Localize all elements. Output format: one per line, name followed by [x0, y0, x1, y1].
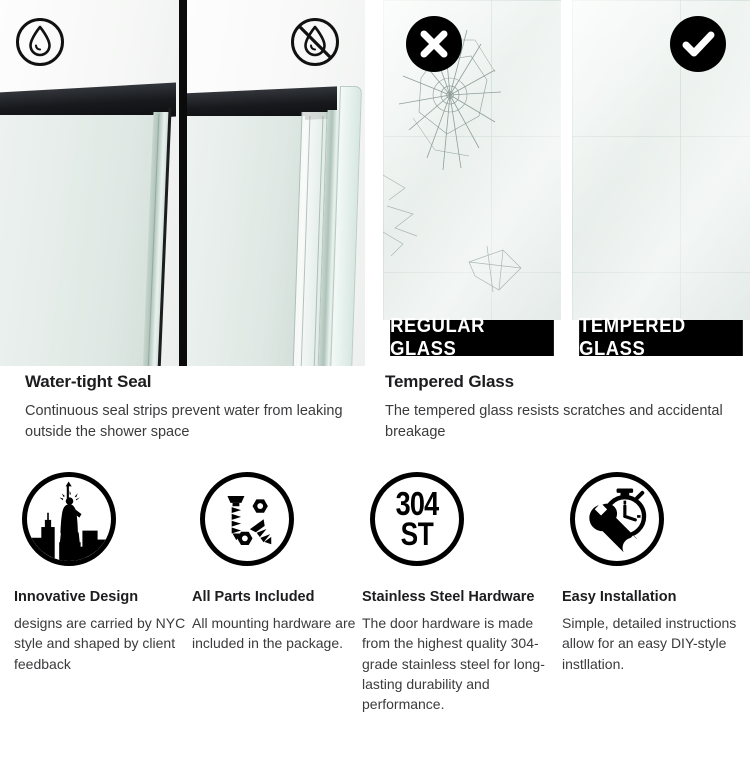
water-tight-seal-photo	[0, 0, 365, 366]
benefit-stainless-steel-hardware: 304 ST Stainless Steel Hardware The door…	[362, 472, 558, 714]
tempered-glass-panel: TEMPERED GLASS	[572, 0, 750, 366]
benefit-body: designs are carried by NYC style and sha…	[14, 613, 190, 673]
benefit-easy-installation: Easy Installation Simple, detailed instr…	[562, 472, 742, 674]
benefit-innovative-design: Innovative Design designs are carried by…	[14, 472, 190, 674]
photo-divider	[179, 0, 187, 366]
benefit-body: Simple, detailed instructions allow for …	[562, 613, 742, 673]
regular-glass-panel: REGULAR GLASS	[383, 0, 561, 366]
feature-water-tight-seal: Water-tight Seal Continuous seal strips …	[25, 372, 385, 442]
x-mark-icon	[406, 16, 462, 72]
regular-glass-caption: REGULAR GLASS	[390, 320, 554, 356]
benefit-body: All mounting hardware are included in th…	[192, 613, 360, 653]
304-line: 304	[396, 488, 439, 519]
benefit-all-parts-included: All Parts Included All mounting hardware…	[192, 472, 360, 654]
screws-and-nuts-icon	[200, 472, 294, 566]
st-line: ST	[396, 519, 439, 549]
benefit-title: Stainless Steel Hardware	[362, 588, 558, 606]
wrench-and-stopwatch-icon	[570, 472, 664, 566]
304-st-stamp-icon: 304 ST	[370, 472, 464, 566]
benefit-title: Innovative Design	[14, 588, 190, 606]
tempered-glass-caption: TEMPERED GLASS	[579, 320, 743, 356]
feature-text-row: Water-tight Seal Continuous seal strips …	[0, 372, 750, 468]
benefit-title: Easy Installation	[562, 588, 742, 606]
benefits-grid: Innovative Design designs are carried by…	[0, 472, 750, 760]
benefit-body: The door hardware is made from the highe…	[362, 613, 558, 714]
water-drop-no-leak-icon	[289, 16, 341, 68]
water-drop-icon	[14, 16, 66, 68]
photo-band: REGULAR GLASS TEMPERED GLASS	[0, 0, 750, 366]
nyc-skyline-statue-of-liberty-icon	[22, 472, 116, 566]
feature-body: Continuous seal strips prevent water fro…	[25, 401, 385, 442]
feature-title: Tempered Glass	[385, 372, 745, 392]
feature-title: Water-tight Seal	[25, 372, 385, 392]
glass-comparison-photo: REGULAR GLASS TEMPERED GLASS	[383, 0, 750, 366]
benefit-title: All Parts Included	[192, 588, 360, 606]
feature-body: The tempered glass resists scratches and…	[385, 401, 745, 442]
304-st-label: 304 ST	[396, 488, 439, 550]
feature-tempered-glass: Tempered Glass The tempered glass resist…	[385, 372, 745, 442]
product-feature-infographic: REGULAR GLASS TEMPERED GLASS Water-tight…	[0, 0, 750, 760]
check-mark-icon	[670, 16, 726, 72]
